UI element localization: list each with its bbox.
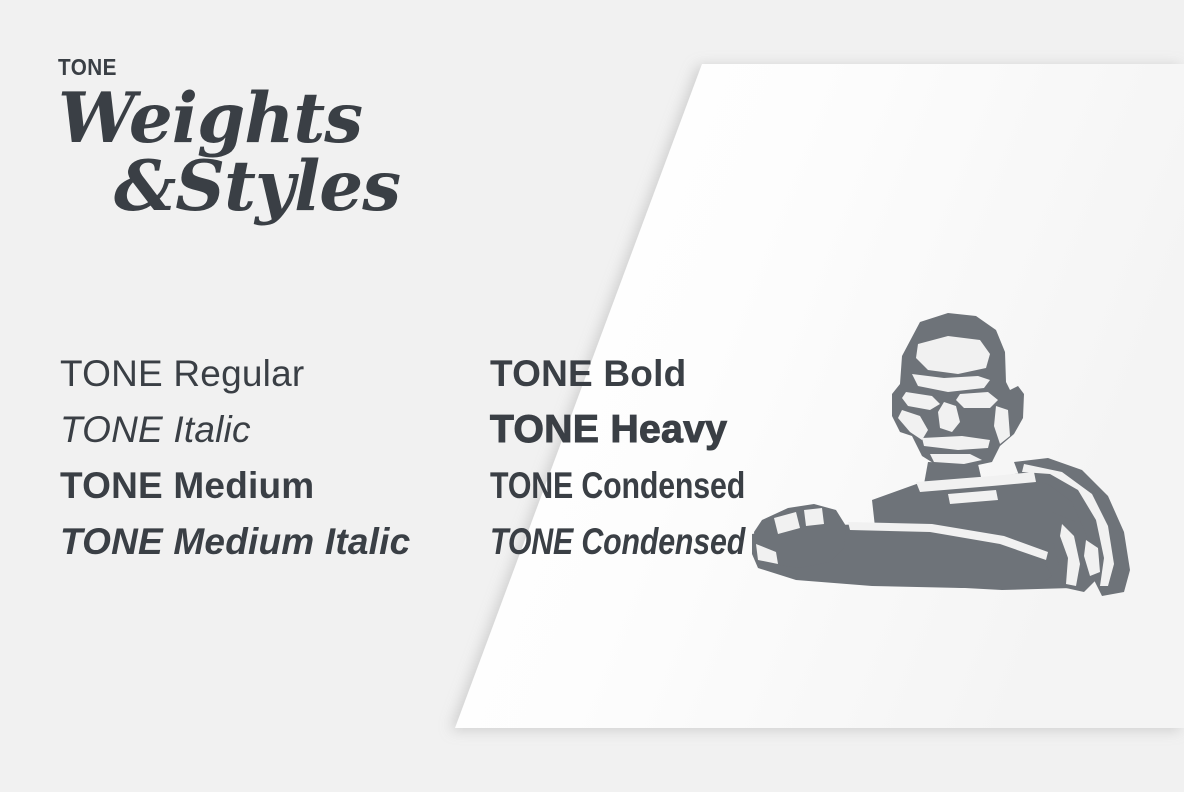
sample-tone-regular: TONE Regular <box>60 353 304 394</box>
sample-tone-medium-italic: TONE Medium Italic <box>60 521 410 562</box>
type-specimen-poster: TONE Weights &Styles TONE Regular TONE I… <box>0 0 1184 792</box>
sample-row: TONE Regular <box>60 346 480 402</box>
sample-tone-heavy: TONE Heavy <box>490 408 727 451</box>
sample-tone-italic: TONE Italic <box>60 409 251 450</box>
sample-column-left: TONE Regular TONE Italic TONE Medium TON… <box>60 346 480 570</box>
sample-tone-bold: TONE Bold <box>490 353 686 394</box>
sample-row: TONE Medium <box>60 458 480 514</box>
sample-tone-condensed: TONE Condensed <box>490 458 745 514</box>
sample-row: TONE Italic <box>60 402 480 458</box>
sample-tone-medium: TONE Medium <box>60 465 314 506</box>
sample-row: TONE Medium Italic <box>60 514 480 570</box>
muscular-man-crossed-arms-icon <box>752 286 1152 606</box>
